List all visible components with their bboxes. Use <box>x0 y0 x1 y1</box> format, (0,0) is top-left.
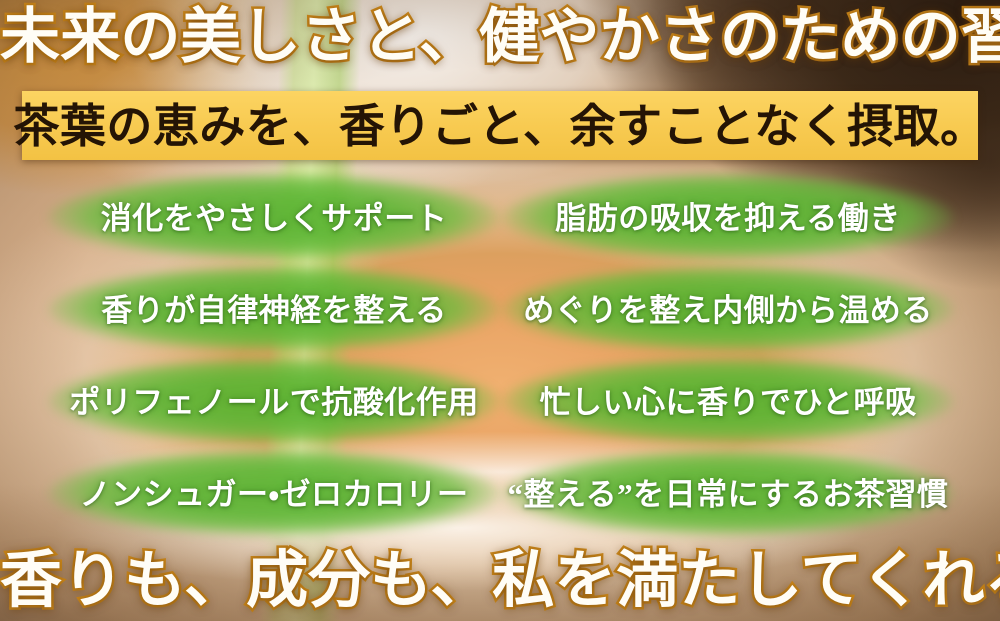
subtitle-band: 茶葉の恵みを、香りごと、余すことなく摂取。 <box>22 91 978 160</box>
benefit-label: 消化をやさしくサポート <box>101 203 448 234</box>
benefit-pill: 消化をやさしくサポート <box>48 172 500 264</box>
benefit-label: 香りが自律神経を整える <box>101 295 447 326</box>
headline-text: 未来の美しさと、健やかさのための習慣 <box>0 6 1000 69</box>
benefit-label: “整える”を日常にするお茶習慣 <box>508 479 949 510</box>
benefit-label: ポリフェノールで抗酸化作用 <box>69 387 479 418</box>
subtitle-text: 茶葉の恵みを、香りごと、余すことなく摂取。 <box>13 104 986 150</box>
benefit-pill-grid: 消化をやさしくサポート 脂肪の吸収を抑える働き 香りが自律神経を整える めぐりを… <box>0 170 1000 538</box>
benefit-pill: ポリフェノールで抗酸化作用 <box>48 356 500 448</box>
benefit-pill: めぐりを整え内側から温める <box>502 264 954 356</box>
benefit-label: 忙しい心に香りでひと呼吸 <box>539 387 916 418</box>
benefit-pill: 忙しい心に香りでひと呼吸 <box>502 356 954 448</box>
benefit-pill: ノンシュガー・ゼロカロリー <box>48 448 500 540</box>
footer-tagline: 香りも、成分も、私を満たしてくれる。 <box>0 550 1000 613</box>
benefit-pill: 脂肪の吸収を抑える働き <box>502 172 954 264</box>
benefit-label: ノンシュガー・ゼロカロリー <box>79 479 468 510</box>
promotional-banner: 未来の美しさと、健やかさのための習慣 茶葉の恵みを、香りごと、余すことなく摂取。… <box>0 0 1000 621</box>
benefit-pill: 香りが自律神経を整える <box>48 264 500 356</box>
benefit-label: めぐりを整え内側から温める <box>523 295 933 326</box>
benefit-label: 脂肪の吸収を抑える働き <box>555 203 901 234</box>
benefit-pill: “整える”を日常にするお茶習慣 <box>502 448 954 540</box>
